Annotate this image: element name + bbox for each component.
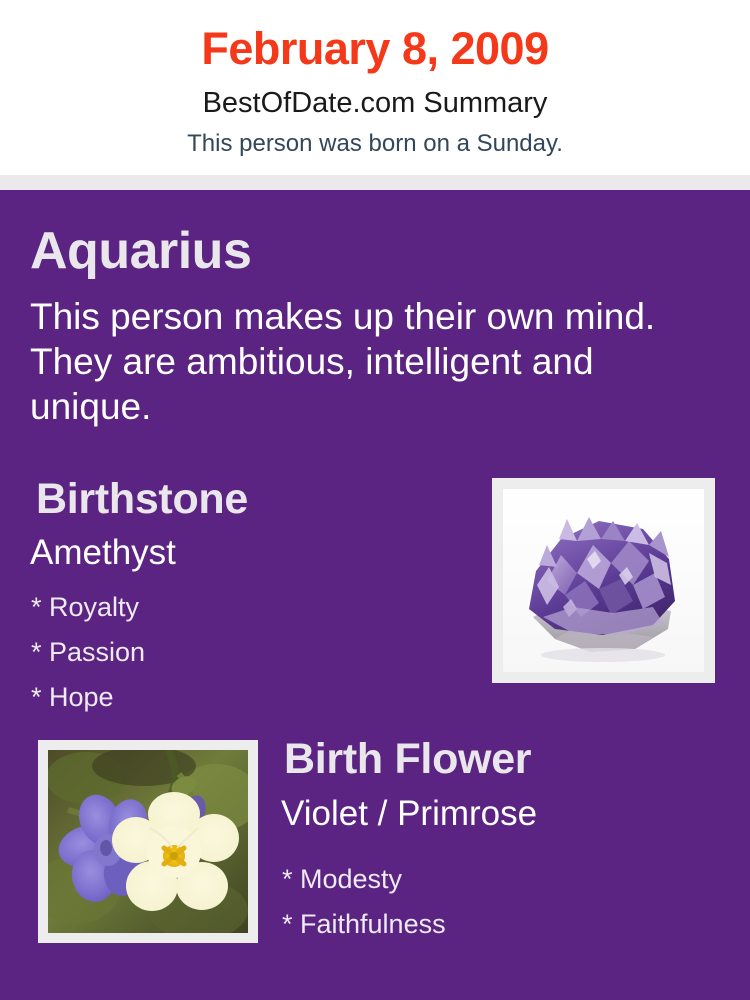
site-summary-label: BestOfDate.com Summary (0, 86, 750, 121)
zodiac-sign-heading: Aquarius (30, 224, 251, 279)
birth-day-note: This person was born on a Sunday. (0, 130, 750, 159)
page-header: February 8, 2009 BestOfDate.com Summary … (0, 0, 750, 175)
flower-photo (48, 750, 248, 933)
amethyst-photo (503, 489, 704, 672)
violet-primrose-flower-icon (48, 750, 248, 933)
list-item: * Royalty (31, 585, 451, 630)
zodiac-description: This person makes up their own mind. The… (30, 294, 690, 429)
birthstone-name: Amethyst (30, 534, 176, 573)
list-item: * Hope (31, 675, 451, 720)
birthstone-heading: Birthstone (36, 477, 248, 522)
birth-flower-name: Violet / Primrose (281, 795, 537, 834)
birth-flower-image-frame (38, 740, 258, 943)
page-title-date: February 8, 2009 (0, 23, 750, 75)
summary-page: February 8, 2009 BestOfDate.com Summary … (0, 0, 750, 1000)
birth-flower-trait-list: * Modesty * Faithfulness (282, 857, 722, 947)
list-item: * Faithfulness (282, 902, 722, 947)
list-item: * Passion (31, 630, 451, 675)
birthstone-trait-list: * Royalty * Passion * Hope (31, 585, 451, 719)
birth-flower-heading: Birth Flower (284, 737, 531, 782)
header-separator (0, 175, 750, 190)
birthstone-image-frame (492, 478, 715, 683)
amethyst-crystal-icon (503, 489, 704, 672)
list-item: * Modesty (282, 857, 722, 902)
